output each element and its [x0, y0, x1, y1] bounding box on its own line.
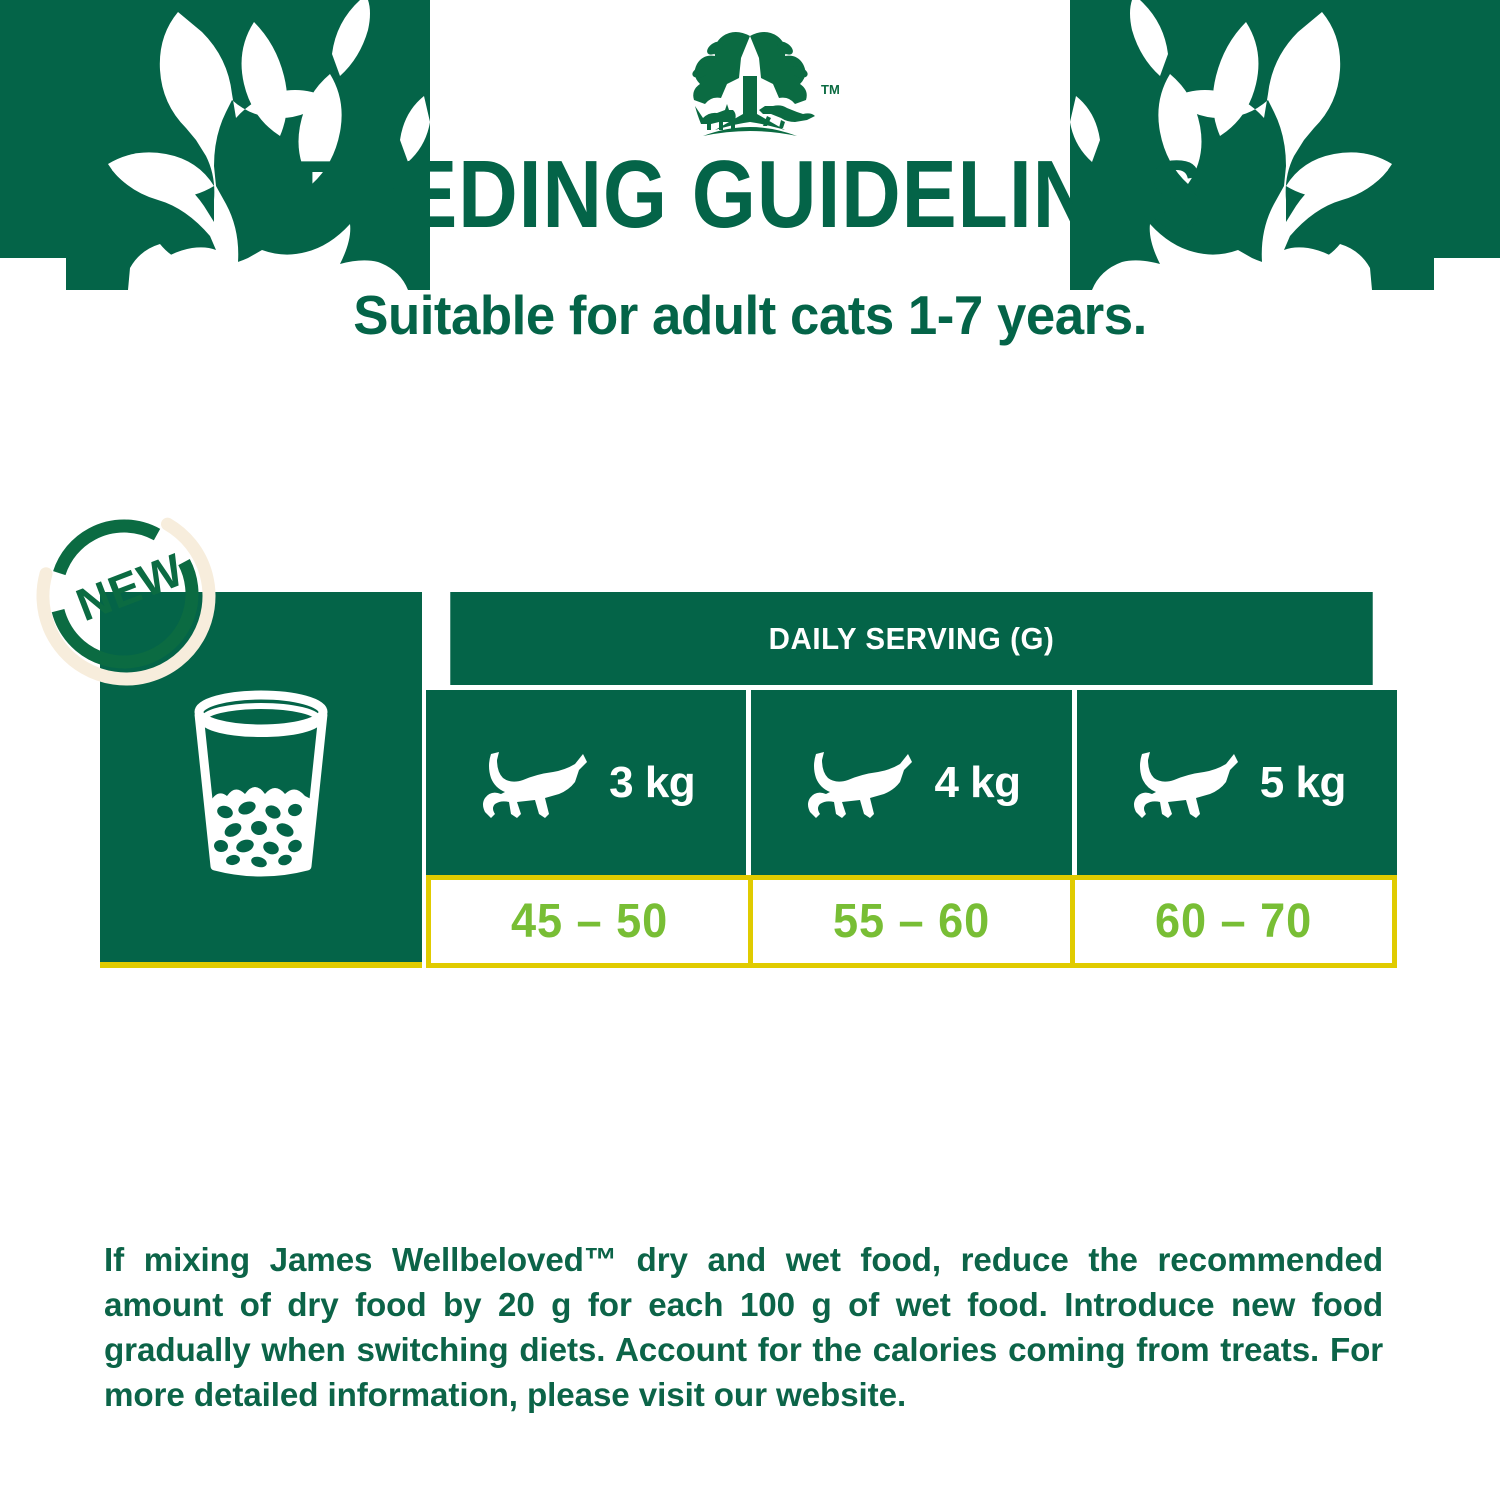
new-badge: NEW	[36, 498, 224, 686]
weight-row: 3 kg 4 kg 5 kg	[426, 690, 1397, 875]
daily-serving-header: DAILY SERVING (G)	[450, 592, 1372, 685]
weight-label-1: 3 kg	[609, 758, 695, 808]
serving-columns: DAILY SERVING (G) 3 kg 4 kg	[426, 592, 1397, 974]
walking-cat-icon	[477, 744, 593, 822]
footer-note: If mixing James Wellbeloved™ dry and wet…	[104, 1238, 1383, 1418]
measuring-cup-with-kibble-icon	[181, 688, 341, 878]
serving-value-2: 55 – 60	[833, 894, 990, 949]
walking-cat-icon	[802, 744, 918, 822]
weight-cell-2: 4 kg	[751, 690, 1071, 875]
brand-logo-icon: TM	[655, 18, 845, 148]
weight-cell-3: 5 kg	[1077, 690, 1397, 875]
serving-value-3: 60 – 70	[1155, 894, 1312, 949]
feeding-guidelines-page: TM FEEDING GUIDELINES Suitable for adult…	[0, 0, 1500, 1500]
weight-label-3: 5 kg	[1260, 758, 1346, 808]
serving-value-cell-2: 55 – 60	[748, 875, 1075, 968]
serving-value-cell-1: 45 – 50	[426, 875, 753, 968]
serving-value-cell-3: 60 – 70	[1070, 875, 1397, 968]
weight-cell-1: 3 kg	[426, 690, 746, 875]
serving-values-row: 45 – 50 55 – 60 60 – 70	[426, 875, 1397, 968]
page-subtitle: Suitable for adult cats 1-7 years.	[30, 285, 1470, 345]
serving-value-1: 45 – 50	[511, 894, 668, 949]
page-title: FEEDING GUIDELINES	[105, 147, 1395, 243]
weight-label-2: 4 kg	[934, 758, 1020, 808]
feeding-guidelines-table: DAILY SERVING (G) 3 kg 4 kg	[100, 592, 1397, 974]
logo-trademark: TM	[821, 82, 840, 97]
walking-cat-icon	[1128, 744, 1244, 822]
